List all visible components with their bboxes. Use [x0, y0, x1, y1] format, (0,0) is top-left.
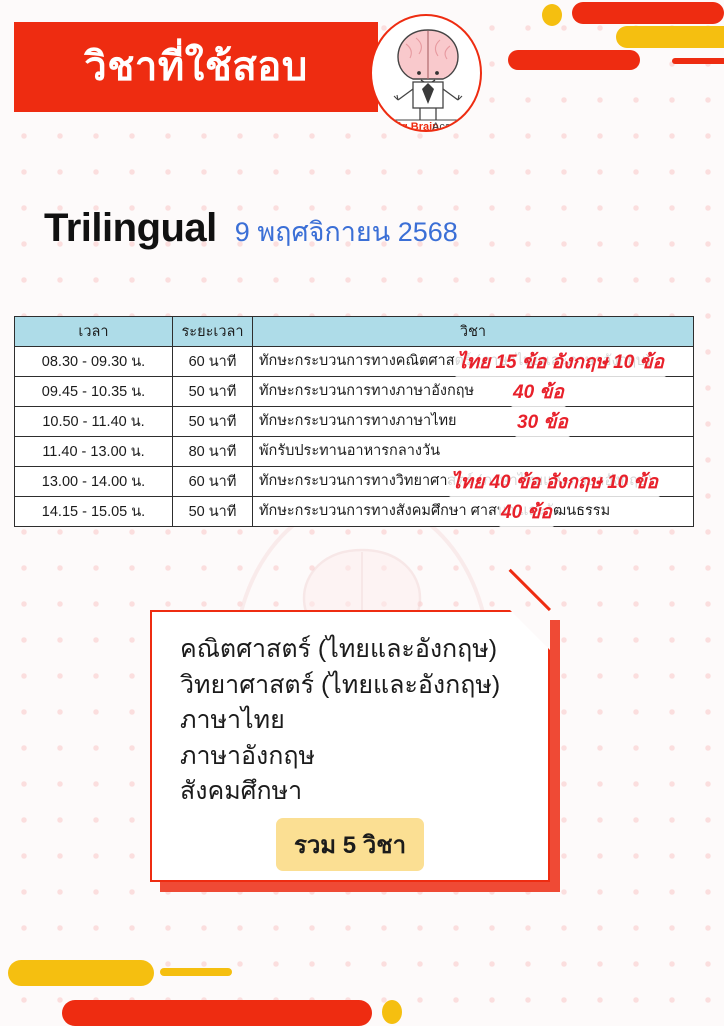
table-row: 11.40 - 13.00 น.80 นาทีพักรับประทานอาหาร… [15, 437, 694, 467]
cell-time: 14.15 - 15.05 น. [15, 497, 173, 527]
cell-duration: 50 นาที [173, 497, 253, 527]
subject-wrapper: ทักษะกระบวนการทางวิทยาศาสตร์ (ภาษาไทยและ… [259, 467, 687, 496]
subject-text: พักรับประทานอาหารกลางวัน [259, 437, 687, 465]
card-folded-corner [510, 610, 550, 650]
deco-dot-bottom-yellow [382, 1000, 402, 1024]
big-brain-academy-logo: Big Brain Academy [370, 14, 482, 132]
subject-wrapper: พักรับประทานอาหารกลางวัน [259, 437, 687, 466]
subject-text: ทักษะกระบวนการทางสังคมศึกษา ศาสนา และวัฒ… [259, 497, 687, 525]
list-item: สังคมศึกษา [180, 774, 548, 810]
cell-subject: ทักษะกระบวนการทางสังคมศึกษา ศาสนา และวัฒ… [253, 497, 694, 527]
subject-wrapper: ทักษะกระบวนการทางภาษาไทย30 ข้อ [259, 407, 687, 436]
subject-list: คณิตศาสตร์ (ไทยและอังกฤษ)วิทยาศาสตร์ (ไท… [152, 612, 548, 810]
page-header: วิชาที่ใช้สอบ Big Brain Academy [0, 0, 724, 140]
cell-time: 11.40 - 13.00 น. [15, 437, 173, 467]
exam-schedule-table: เวลา ระยะเวลา วิชา 08.30 - 09.30 น.60 นา… [14, 316, 694, 527]
cell-duration: 60 นาที [173, 347, 253, 377]
table-row: 10.50 - 11.40 น.50 นาทีทักษะกระบวนการทาง… [15, 407, 694, 437]
table-body: 08.30 - 09.30 น.60 นาทีทักษะกระบวนการทาง… [15, 347, 694, 527]
list-item: ภาษาไทย [180, 703, 548, 739]
card-fold-edge-line [509, 569, 551, 611]
table-header-row: เวลา ระยะเวลา วิชา [15, 317, 694, 347]
cell-subject: พักรับประทานอาหารกลางวัน [253, 437, 694, 467]
cell-subject: ทักษะกระบวนการทางคณิตศาสตร์ (ภาษาไทยและภ… [253, 347, 694, 377]
table-row: 08.30 - 09.30 น.60 นาทีทักษะกระบวนการทาง… [15, 347, 694, 377]
cell-duration: 50 นาที [173, 377, 253, 407]
question-count-annotation: 40 ข้อ [499, 497, 554, 527]
question-count-annotation: 30 ข้อ [515, 407, 570, 437]
list-item: วิทยาศาสตร์ (ไทยและอังกฤษ) [180, 668, 548, 704]
list-item: ภาษาอังกฤษ [180, 739, 548, 775]
logo-text-academy: Academy [432, 121, 478, 132]
program-heading: Trilingual 9 พฤศจิกายน 2568 [44, 206, 458, 253]
question-count-annotation: ไทย 15 ข้อ อังกฤษ 10 ข้อ [455, 347, 666, 377]
subject-summary-card: คณิตศาสตร์ (ไทยและอังกฤษ)วิทยาศาสตร์ (ไท… [150, 610, 550, 882]
cell-duration: 80 นาที [173, 437, 253, 467]
cell-subject: ทักษะกระบวนการทางภาษาอังกฤษ40 ข้อ [253, 377, 694, 407]
subject-text: ทักษะกระบวนการทางภาษาไทย [259, 407, 687, 435]
subject-text: ทักษะกระบวนการทางภาษาอังกฤษ [259, 377, 687, 405]
deco-bar-bottom-yellow-1 [8, 960, 154, 986]
deco-bar-bottom-yellow-2 [160, 968, 232, 976]
subject-wrapper: ทักษะกระบวนการทางสังคมศึกษา ศาสนา และวัฒ… [259, 497, 687, 526]
cell-time: 09.45 - 10.35 น. [15, 377, 173, 407]
subject-wrapper: ทักษะกระบวนการทางภาษาอังกฤษ40 ข้อ [259, 377, 687, 406]
total-badge-row: รวม 5 วิชา [152, 818, 548, 871]
cell-duration: 50 นาที [173, 407, 253, 437]
title-banner: วิชาที่ใช้สอบ [14, 22, 378, 112]
question-count-annotation: ไทย 40 ข้อ อังกฤษ 10 ข้อ [449, 467, 660, 497]
table-row: 14.15 - 15.05 น.50 นาทีทักษะกระบวนการทาง… [15, 497, 694, 527]
table-row: 13.00 - 14.00 น.60 นาทีทักษะกระบวนการทาง… [15, 467, 694, 497]
cell-duration: 60 นาที [173, 467, 253, 497]
column-header-subject: วิชา [253, 317, 694, 347]
cell-subject: ทักษะกระบวนการทางภาษาไทย30 ข้อ [253, 407, 694, 437]
question-count-annotation: 40 ข้อ [511, 377, 566, 407]
cell-time: 08.30 - 09.30 น. [15, 347, 173, 377]
program-name: Trilingual [44, 206, 217, 251]
page-title: วิชาที่ใช้สอบ [84, 47, 307, 87]
table-row: 09.45 - 10.35 น.50 นาทีทักษะกระบวนการทาง… [15, 377, 694, 407]
cell-subject: ทักษะกระบวนการทางวิทยาศาสตร์ (ภาษาไทยและ… [253, 467, 694, 497]
column-header-duration: ระยะเวลา [173, 317, 253, 347]
total-subjects-badge: รวม 5 วิชา [276, 818, 424, 871]
cell-time: 10.50 - 11.40 น. [15, 407, 173, 437]
column-header-time: เวลา [15, 317, 173, 347]
table-header: เวลา ระยะเวลา วิชา [15, 317, 694, 347]
list-item: คณิตศาสตร์ (ไทยและอังกฤษ) [180, 632, 548, 668]
cell-time: 13.00 - 14.00 น. [15, 467, 173, 497]
deco-bar-bottom-red [62, 1000, 372, 1026]
subject-wrapper: ทักษะกระบวนการทางคณิตศาสตร์ (ภาษาไทยและภ… [259, 347, 687, 376]
exam-date: 9 พฤศจิกายน 2568 [235, 210, 458, 253]
